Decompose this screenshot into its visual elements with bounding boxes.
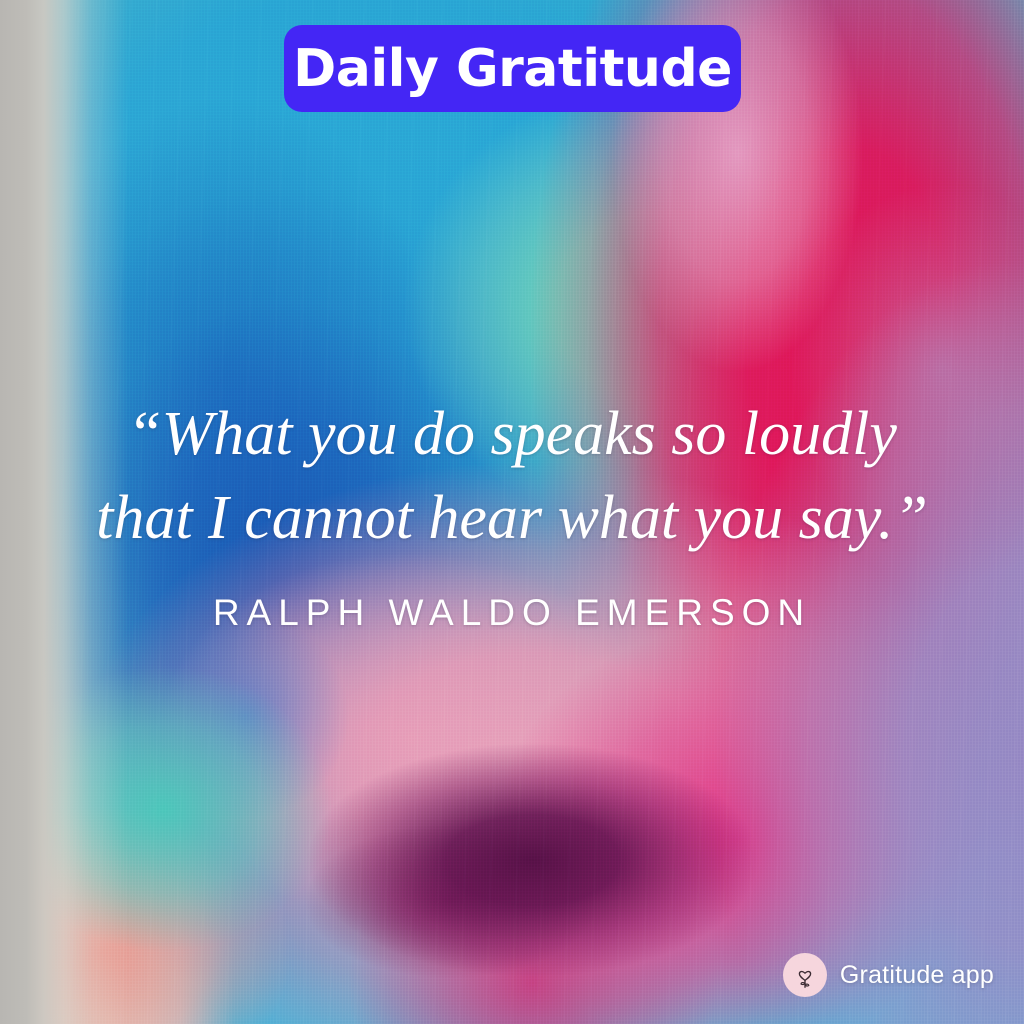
gratitude-app-watermark: Gratitude app — [783, 953, 994, 997]
heart-flower-icon — [783, 953, 827, 997]
quote-line-2: that I cannot hear what you say.” — [0, 476, 1024, 560]
gratitude-quote-card: Daily Gratitude “What you do speaks so l… — [0, 0, 1024, 1024]
gratitude-app-label: Gratitude app — [840, 961, 994, 990]
quote-block: “What you do speaks so loudly that I can… — [0, 392, 1024, 560]
quote-author: RALPH WALDO EMERSON — [0, 592, 1024, 634]
daily-gratitude-badge: Daily Gratitude — [284, 25, 741, 112]
quote-line-1: “What you do speaks so loudly — [0, 392, 1024, 476]
daily-gratitude-badge-label: Daily Gratitude — [293, 43, 732, 95]
